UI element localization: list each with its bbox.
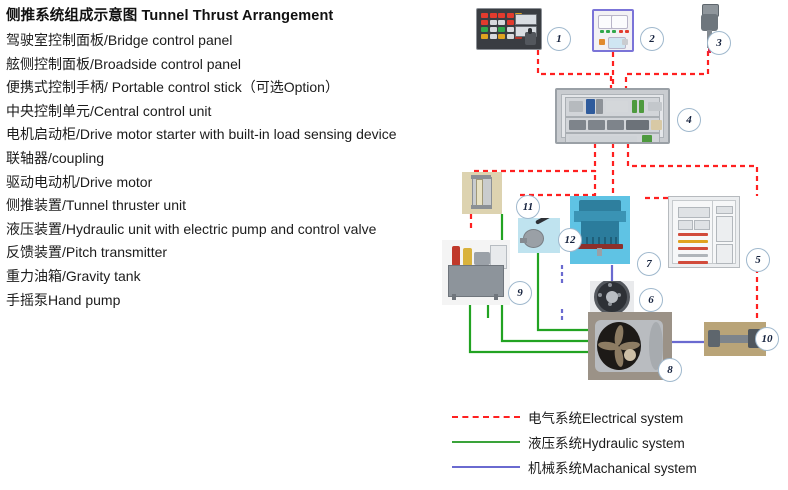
badge-10: 10: [755, 327, 779, 351]
arrangement-diagram: 1 2 3: [430, 0, 788, 400]
panel-joystick[interactable]: [525, 32, 536, 45]
drive-motor-starter[interactable]: [668, 196, 740, 268]
mechanical-label: 机械系统Machanical system: [528, 457, 697, 477]
hydraulic-line-swatch: [452, 441, 520, 443]
broadside-control-panel[interactable]: [592, 9, 634, 52]
shelf-middle: [565, 117, 660, 133]
diagram-page: 侧推系统组成示意图 Tunnel Thrust Arrangement 驾驶室控…: [0, 0, 788, 490]
accumulator-yellow: [463, 248, 472, 266]
thruster-mouth: [597, 322, 641, 370]
bridge-control-panel[interactable]: [476, 8, 542, 50]
electrical-line-swatch: [452, 416, 520, 418]
caption-item-9: 液压装置/Hydraulic unit with electric pump a…: [6, 218, 456, 242]
coupling-hub: [606, 291, 618, 303]
central-control-unit[interactable]: [555, 88, 670, 144]
electric-pump: [474, 252, 490, 265]
oil-tank: [448, 265, 504, 297]
display-upper: [515, 14, 537, 25]
sight-glass: [476, 179, 483, 207]
pump-nozzle: [520, 238, 527, 243]
page-title: 侧推系统组成示意图 Tunnel Thrust Arrangement: [6, 6, 456, 26]
badge-2: 2: [640, 27, 664, 51]
badge-9: 9: [508, 281, 532, 305]
accumulator-red: [452, 246, 460, 266]
caption-item-7: 驱动电动机/Drive motor: [6, 171, 456, 195]
stick-grip: [701, 14, 718, 31]
badge-4: 4: [677, 108, 701, 132]
caption-item-11: 重力油箱/Gravity tank: [6, 265, 456, 289]
caption-item-4: 中央控制单元/Central control unit: [6, 100, 456, 124]
badge-11: 11: [516, 195, 540, 219]
propeller-hub: [624, 349, 636, 361]
caption-item-2: 舷侧控制面板/Broadside control panel: [6, 53, 456, 77]
badge-7: 7: [637, 252, 661, 276]
cabinet-door-left: [672, 200, 716, 264]
hydraulic-label: 液压系统Hydraulic system: [528, 432, 685, 452]
coupling[interactable]: [590, 281, 634, 313]
caption-item-10: 反馈装置/Pitch transmitter: [6, 241, 456, 265]
key-row-mechanical: 机械系统Machanical system: [452, 454, 782, 479]
badge-12: 12: [558, 228, 582, 252]
tank-cap-top: [471, 175, 491, 179]
drive-motor[interactable]: [570, 196, 630, 264]
tank-cap-bottom: [471, 205, 491, 209]
gravity-tank[interactable]: [462, 172, 502, 214]
badge-5: 5: [746, 248, 770, 272]
caption-item-5: 电机启动柜/Drive motor starter with built-in …: [6, 123, 456, 147]
shelf-top: [565, 97, 660, 117]
caption-item-12: 手摇泵Hand pump: [6, 289, 456, 313]
electrical-label: 电气系统Electrical system: [528, 407, 683, 427]
caption-item-8: 侧推装置/Tunnel thruster unit: [6, 194, 456, 218]
badge-1: 1: [547, 27, 571, 51]
badge-6: 6: [639, 288, 663, 312]
motor-shaft: [597, 248, 602, 256]
system-key: 电气系统Electrical system 液压系统Hydraulic syst…: [452, 404, 782, 479]
caption-item-3: 便携式控制手柄/ Portable control stick（可选Option…: [6, 76, 456, 100]
component-caption-list: 侧推系统组成示意图 Tunnel Thrust Arrangement 驾驶室控…: [6, 6, 456, 312]
shelf-bottom: [565, 133, 660, 144]
cabinet-interior: [561, 94, 664, 138]
mechanical-line-swatch: [452, 466, 520, 468]
pump-handle[interactable]: [535, 218, 552, 225]
key-row-hydraulic: 液压系统Hydraulic system: [452, 429, 782, 454]
motor-body: [581, 221, 619, 245]
cabinet-door-right: [712, 200, 736, 264]
transmitter-left-mount: [708, 330, 720, 347]
badge-3: 3: [707, 31, 731, 55]
key-row-electrical: 电气系统Electrical system: [452, 404, 782, 429]
hydraulic-unit[interactable]: [442, 240, 510, 305]
caption-item-6: 联轴器/coupling: [6, 147, 456, 171]
hand-pump[interactable]: [518, 218, 560, 253]
badge-8: 8: [658, 358, 682, 382]
display-right: [611, 15, 628, 29]
caption-item-1: 驾驶室控制面板/Bridge control panel: [6, 29, 456, 53]
